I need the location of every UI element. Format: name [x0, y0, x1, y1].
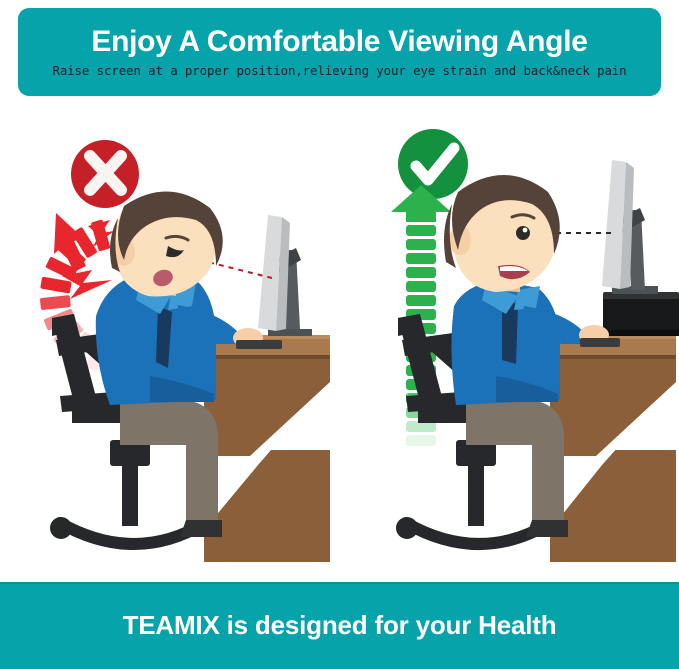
monitor-raised — [602, 160, 658, 294]
page-subtitle: Raise screen at a proper position,reliev… — [52, 63, 626, 78]
cross-mark-icon — [71, 140, 139, 208]
panel-good-posture — [340, 100, 679, 582]
panel-bad-posture — [0, 100, 339, 582]
brand-tagline: TEAMIX is designed for your Health — [123, 610, 557, 641]
infographic-page: Enjoy A Comfortable Viewing Angle Raise … — [0, 0, 679, 669]
banner-top-edge — [0, 582, 679, 584]
illustration-stage — [0, 100, 679, 582]
monitor-riser-stand — [603, 292, 679, 336]
check-mark-icon — [398, 129, 468, 199]
monitor-low — [258, 215, 312, 336]
top-banner: Enjoy A Comfortable Viewing Angle Raise … — [18, 8, 661, 96]
bottom-banner: TEAMIX is designed for your Health — [0, 582, 679, 669]
page-title: Enjoy A Comfortable Viewing Angle — [91, 26, 587, 58]
